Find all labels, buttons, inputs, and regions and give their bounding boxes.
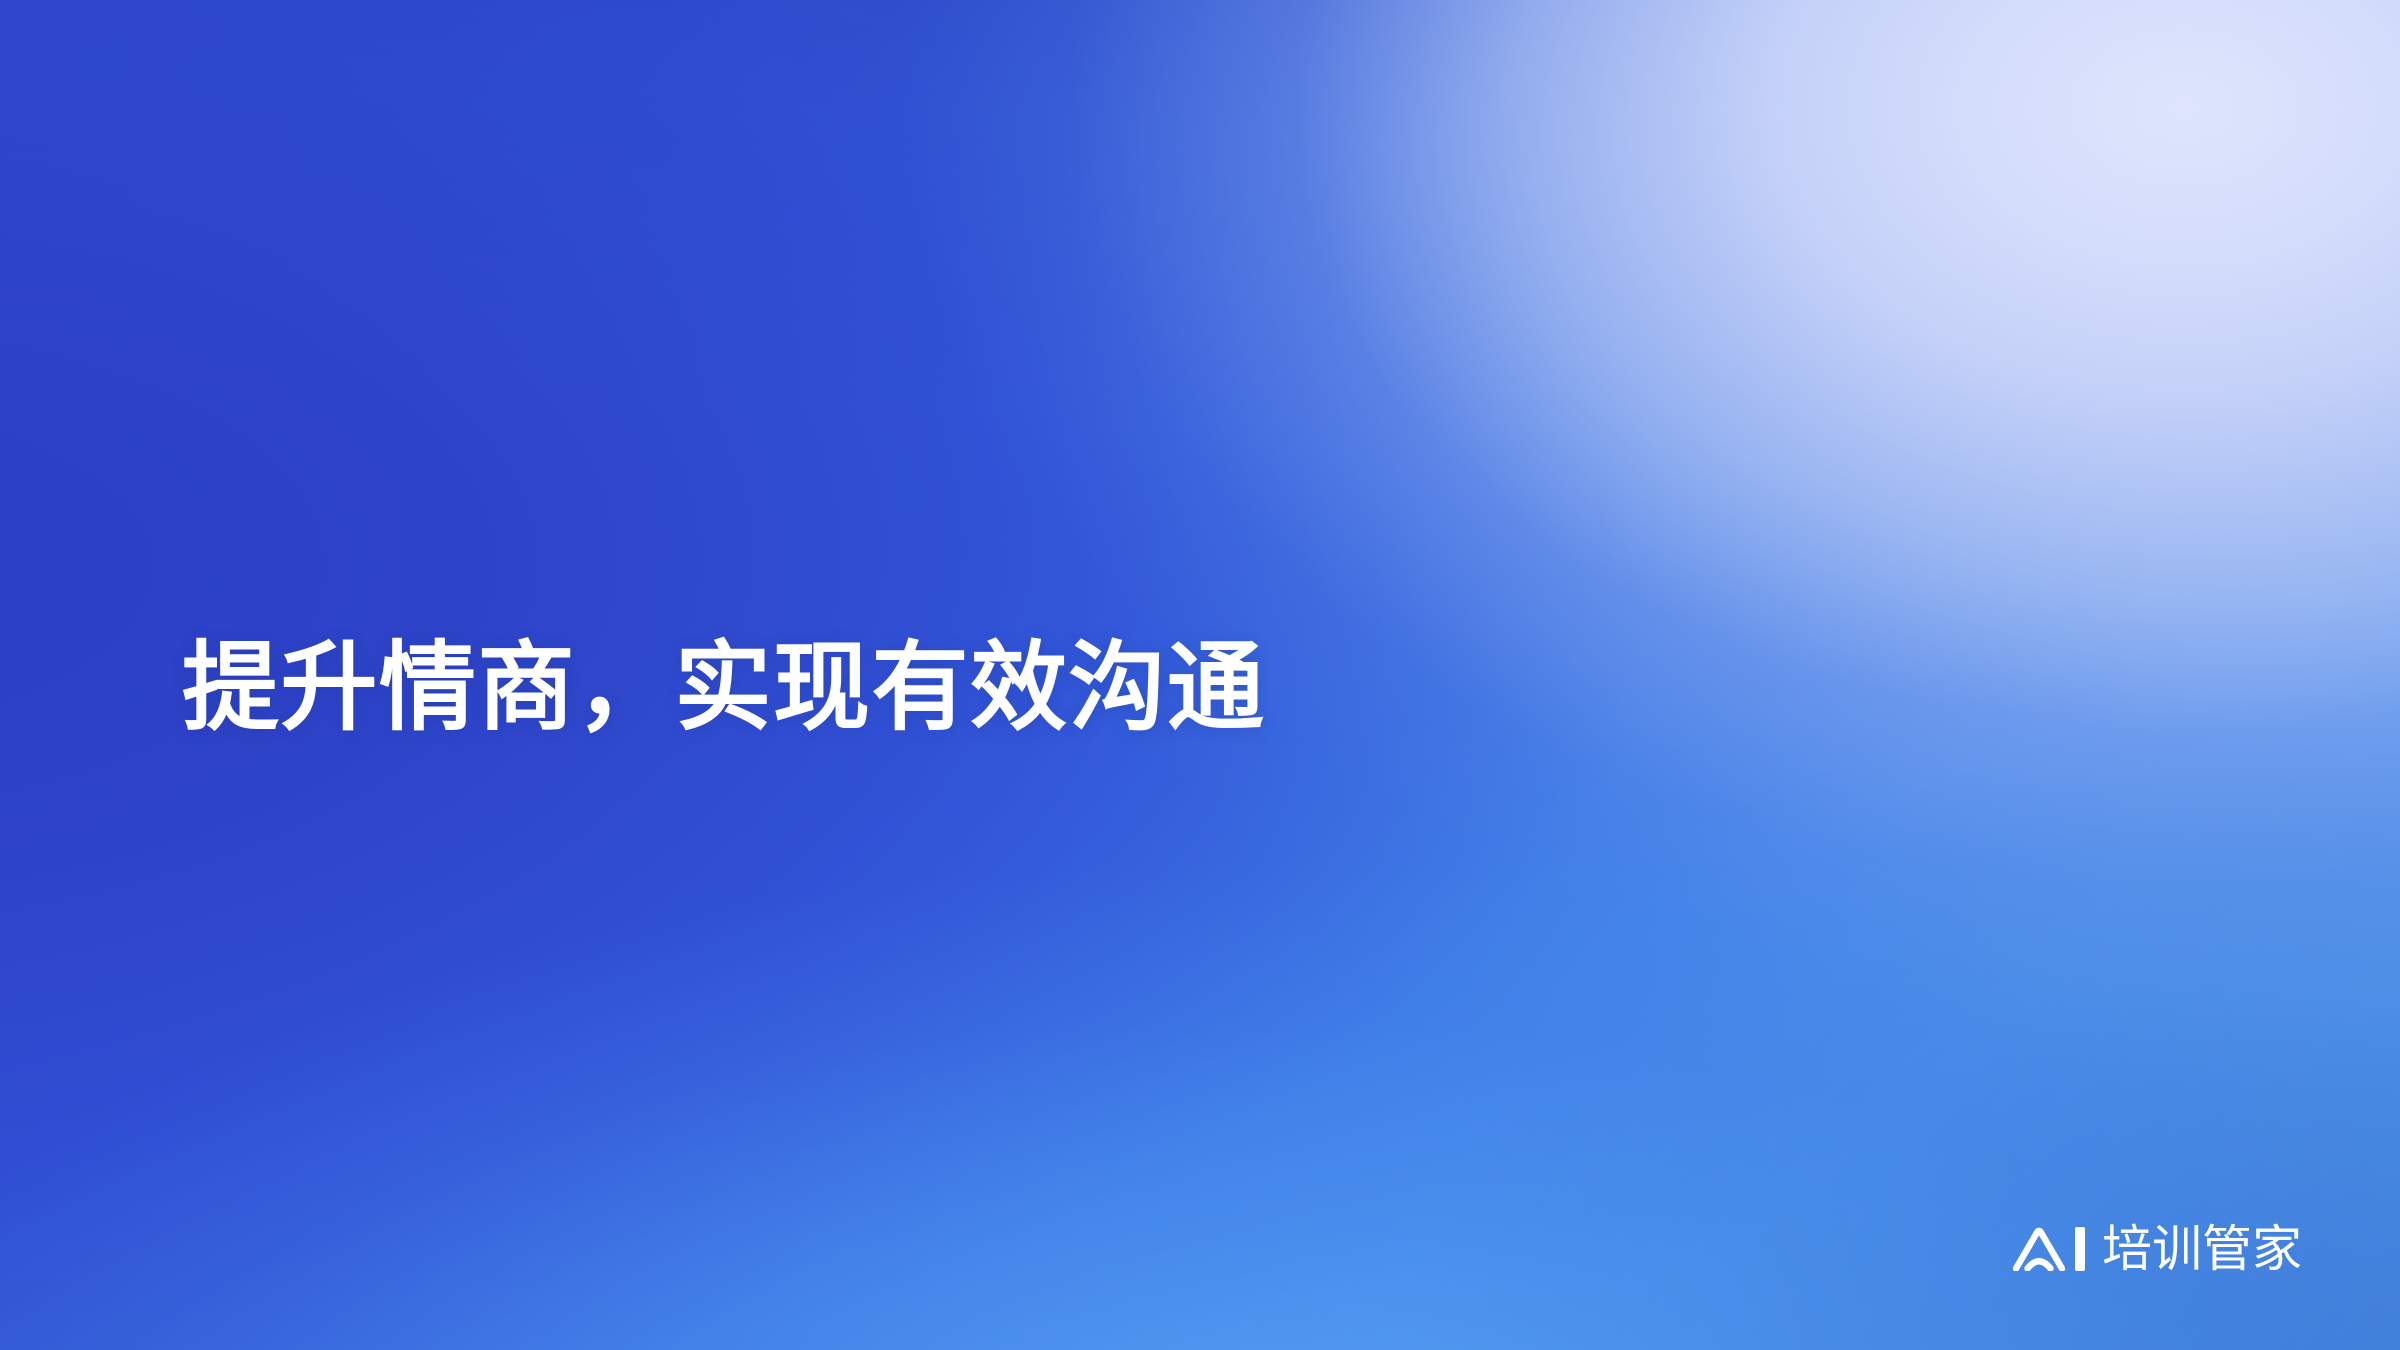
- vertical-bar-icon: [2075, 1227, 2085, 1271]
- ai-logo-chevron-icon: [2012, 1227, 2066, 1271]
- brand-name-label: 培训管家: [2102, 1224, 2302, 1274]
- brand-logo: 培训管家: [2012, 1220, 2302, 1278]
- slide-title: 提升情商，实现有效沟通: [182, 628, 1682, 748]
- title-slide: 提升情商，实现有效沟通 培训管家: [0, 0, 2400, 1350]
